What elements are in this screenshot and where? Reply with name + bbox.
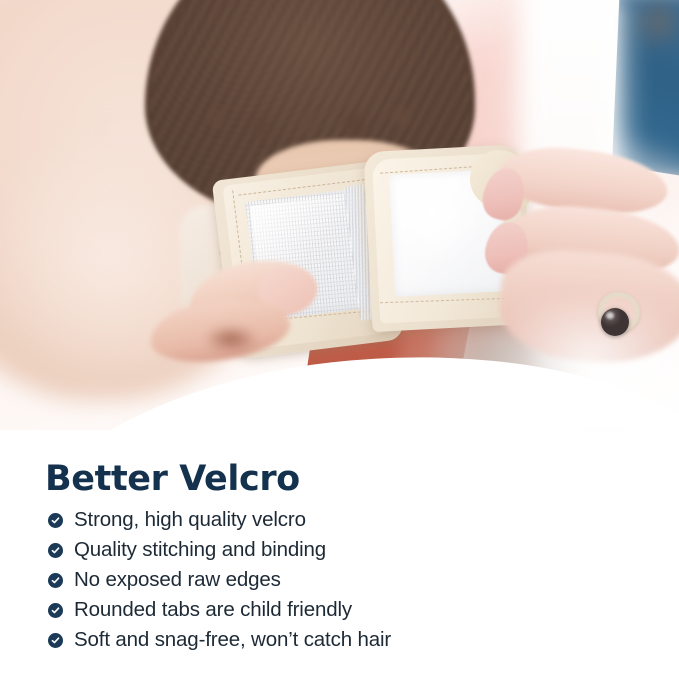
ring-pearl-highlight <box>606 312 614 319</box>
check-circle-icon <box>48 603 63 618</box>
list-item: Rounded tabs are child friendly <box>45 597 639 623</box>
feature-text: Soft and snag-free, won’t catch hair <box>74 628 391 652</box>
check-circle-icon <box>48 573 63 588</box>
feature-list: Strong, high quality velcro Quality stit… <box>45 507 639 653</box>
check-circle-icon <box>48 543 63 558</box>
list-item: No exposed raw edges <box>45 567 639 593</box>
check-circle-icon <box>48 633 63 648</box>
ring-pearl <box>601 308 629 336</box>
list-item: Quality stitching and binding <box>45 537 639 563</box>
feature-text: No exposed raw edges <box>74 568 281 592</box>
list-item: Soft and snag-free, won’t catch hair <box>45 627 639 653</box>
check-circle-icon <box>48 513 63 528</box>
left-hand-shadow <box>196 322 266 356</box>
background-hair-blur <box>630 0 679 50</box>
page-title: Better Velcro <box>45 462 639 497</box>
list-item: Strong, high quality velcro <box>45 507 639 533</box>
feature-panel: Better Velcro Strong, high quality velcr… <box>0 436 679 679</box>
feature-text: Rounded tabs are child friendly <box>74 598 352 622</box>
feature-text: Quality stitching and binding <box>74 538 326 562</box>
product-feature-card: Better Velcro Strong, high quality velcr… <box>0 0 679 679</box>
feature-text: Strong, high quality velcro <box>74 508 306 532</box>
